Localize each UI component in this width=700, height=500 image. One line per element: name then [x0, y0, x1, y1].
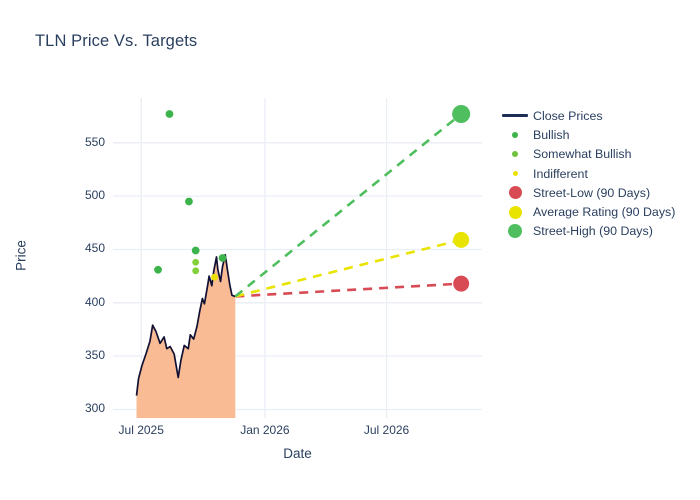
y-tick-label: 450	[61, 242, 105, 254]
legend-dot-icon	[500, 206, 530, 219]
legend-item[interactable]: Close Prices	[500, 106, 696, 125]
legend-dot-icon	[500, 132, 530, 138]
legend-swatch	[502, 114, 528, 117]
legend-item[interactable]: Somewhat Bullish	[500, 145, 696, 164]
legend-dot-icon	[500, 171, 530, 176]
chart-plot-area	[0, 0, 700, 500]
legend-item-label: Somewhat Bullish	[530, 147, 631, 161]
legend-item[interactable]: Street-Low (90 Days)	[500, 183, 696, 202]
rating-marker	[166, 110, 174, 118]
target-marker	[453, 276, 469, 292]
legend-item-label: Indifferent	[530, 167, 588, 181]
x-tick-label: Jan 2026	[240, 423, 289, 437]
legend-dot-icon	[500, 186, 530, 199]
legend-item-label: Street-Low (90 Days)	[530, 186, 650, 200]
legend-swatch	[512, 151, 518, 157]
chart-figure: TLN Price Vs. Targets 300350400450500550…	[0, 0, 700, 500]
x-tick-label: Jul 2025	[119, 423, 164, 437]
target-trend-line	[235, 284, 461, 297]
rating-marker	[192, 247, 200, 255]
legend-item[interactable]: Average Rating (90 Days)	[500, 202, 696, 221]
rating-marker	[192, 267, 199, 274]
x-axis-title: Date	[113, 446, 482, 461]
y-tick-label: 550	[61, 136, 105, 148]
rating-marker	[154, 266, 162, 274]
legend-swatch	[512, 132, 518, 138]
legend-dot-icon	[500, 151, 530, 157]
rating-marker	[192, 259, 199, 266]
legend-item-label: Close Prices	[530, 109, 603, 123]
x-tick-label: Jul 2026	[364, 423, 409, 437]
rating-marker	[219, 254, 227, 262]
chart-legend: Close PricesBullishSomewhat BullishIndif…	[500, 106, 696, 241]
legend-item[interactable]: Indifferent	[500, 164, 696, 183]
legend-swatch	[509, 186, 522, 199]
legend-swatch	[509, 206, 522, 219]
target-trend-line	[235, 240, 461, 297]
legend-swatch	[508, 224, 522, 238]
legend-line-icon	[500, 114, 530, 117]
legend-item-label: Bullish	[530, 128, 570, 142]
legend-item[interactable]: Bullish	[500, 125, 696, 144]
legend-item-label: Street-High (90 Days)	[530, 224, 653, 238]
rating-marker	[211, 274, 218, 281]
y-axis-title: Price	[14, 221, 29, 291]
y-tick-label: 400	[61, 296, 105, 308]
y-tick-label: 500	[61, 189, 105, 201]
legend-item-label: Average Rating (90 Days)	[530, 205, 675, 219]
target-marker	[452, 105, 470, 123]
rating-marker	[185, 198, 193, 206]
target-marker	[453, 232, 469, 248]
legend-swatch	[513, 171, 518, 176]
y-tick-label: 300	[61, 402, 105, 414]
y-tick-label: 350	[61, 349, 105, 361]
legend-item[interactable]: Street-High (90 Days)	[500, 222, 696, 241]
legend-dot-icon	[500, 224, 530, 238]
